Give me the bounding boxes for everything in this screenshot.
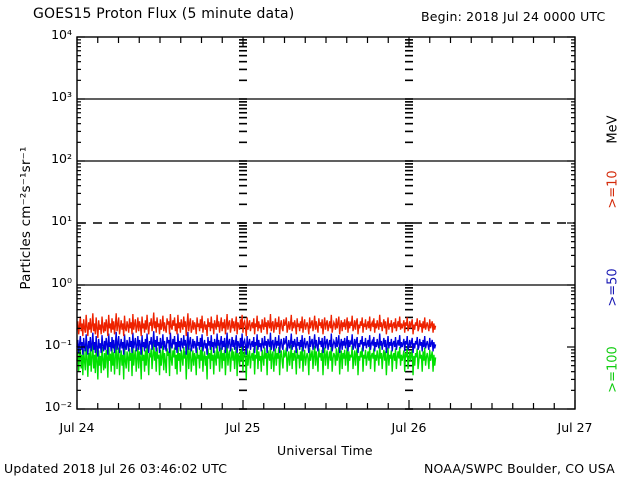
updated-timestamp: Updated 2018 Jul 26 03:46:02 UTC — [4, 461, 227, 476]
legend-item-ge100: >=100 — [606, 335, 621, 405]
legend-item-ge50: >=50 — [606, 259, 621, 317]
data-series--10-mev — [77, 313, 436, 338]
legend-item-ge10: >=10 — [606, 161, 621, 219]
legend-unit-mev: MeV — [606, 107, 621, 153]
source-credit: NOAA/SWPC Boulder, CO USA — [424, 461, 615, 476]
plot-canvas — [0, 0, 640, 480]
proton-flux-chart-page: GOES15 Proton Flux (5 minute data) Begin… — [0, 0, 640, 480]
